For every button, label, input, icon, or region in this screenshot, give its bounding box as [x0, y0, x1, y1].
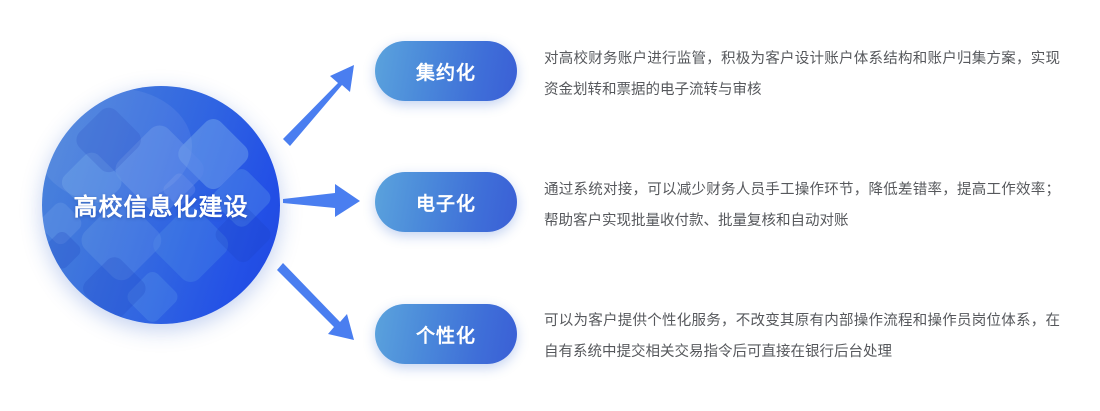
arrow-up-right-icon	[283, 65, 354, 146]
branch-description-3: 可以为客户提供个性化服务，不改变其原有内部操作流程和操作员岗位体系，在自有系统中…	[544, 304, 1060, 368]
branch-pill-2[interactable]: 电子化	[375, 172, 517, 232]
branch-description-1: 对高校财务账户进行监管，积极为客户设计账户体系结构和账户归集方案，实现资金划转和…	[544, 41, 1060, 106]
branch-pill-label: 集约化	[416, 58, 476, 85]
branch-row: 集约化 对高校财务账户进行监管，积极为客户设计账户体系结构和账户归集方案，实现资…	[375, 41, 1080, 106]
arrow-right-icon	[283, 184, 360, 217]
central-hub-circle: 高校信息化建设	[42, 86, 280, 324]
branch-row: 电子化 通过系统对接，可以减少财务人员手工操作环节，降低差错率，提高工作效率；帮…	[375, 172, 1080, 237]
branch-pill-1[interactable]: 集约化	[375, 41, 517, 101]
branch-pill-3[interactable]: 个性化	[375, 304, 517, 364]
branch-pill-label: 个性化	[416, 321, 476, 348]
branch-pill-label: 电子化	[416, 189, 476, 216]
hub-label: 高校信息化建设	[42, 187, 280, 222]
branch-row: 个性化 可以为客户提供个性化服务，不改变其原有内部操作流程和操作员岗位体系，在自…	[375, 304, 1080, 368]
infographic-canvas: 高校信息化建设 集约化 对高校财务账户进行监管，积极为客户设计账户体系结构和账户…	[0, 0, 1100, 411]
branch-description-2: 通过系统对接，可以减少财务人员手工操作环节，降低差错率，提高工作效率；帮助客户实…	[544, 172, 1060, 237]
arrow-down-right-icon	[277, 263, 354, 340]
